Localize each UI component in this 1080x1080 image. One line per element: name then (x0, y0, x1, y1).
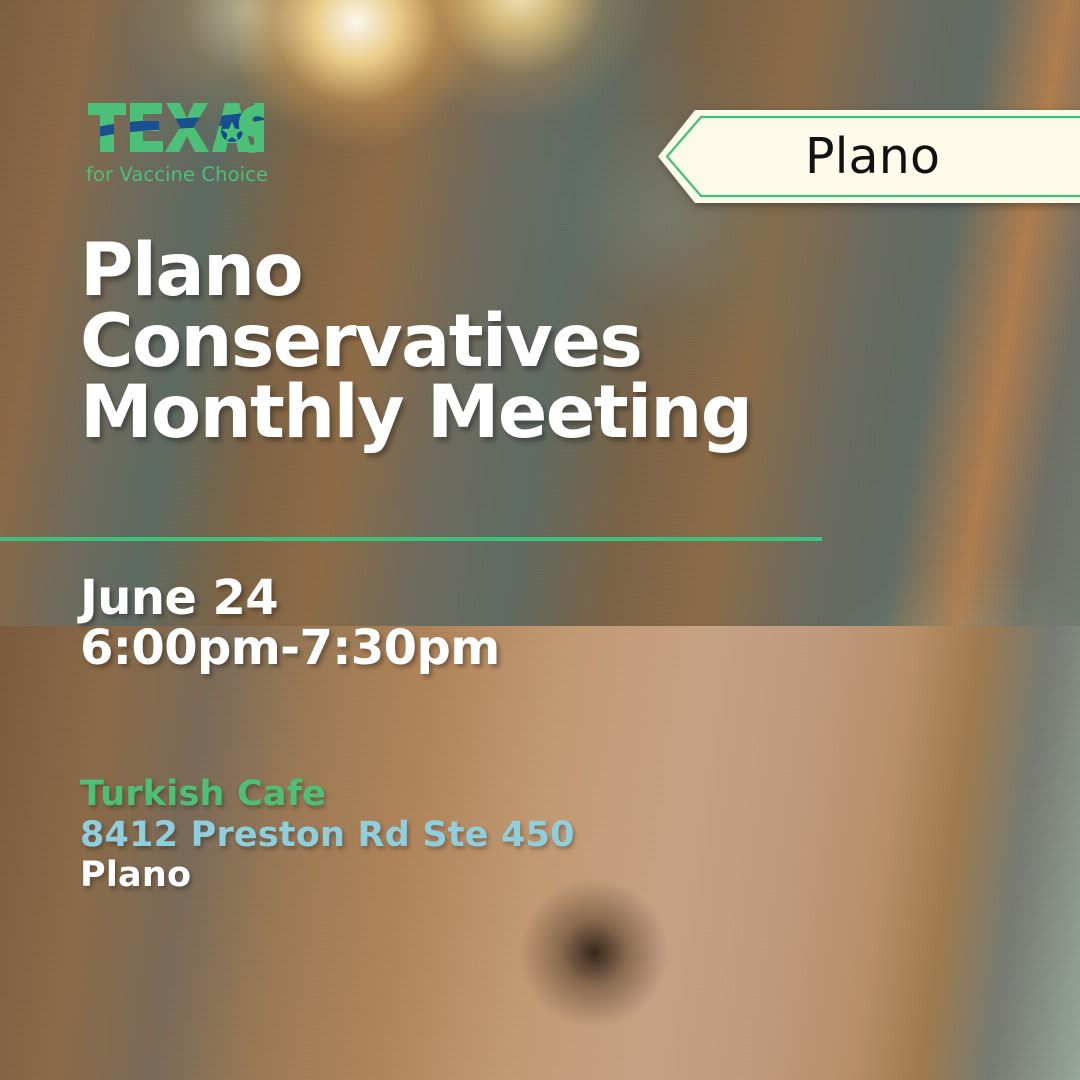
event-datetime: June 24 6:00pm-7:30pm (80, 573, 500, 674)
venue-name: Turkish Cafe (80, 774, 575, 815)
event-title-line-2: Conservatives (80, 307, 840, 378)
event-venue: Turkish Cafe 8412 Preston Rd Ste 450 Pla… (80, 774, 575, 896)
event-flyer: for Vaccine Choice Plano Plano Conservat… (0, 0, 1080, 1080)
event-title-line-3: Monthly Meeting (80, 378, 840, 449)
event-title-line-1: Plano (80, 236, 840, 307)
ribbon-label: Plano (655, 108, 1080, 205)
section-divider (0, 537, 822, 541)
venue-city: Plano (80, 855, 575, 896)
event-title: Plano Conservatives Monthly Meeting (80, 236, 840, 448)
event-date: June 24 (80, 573, 500, 623)
organization-logo: for Vaccine Choice (86, 100, 264, 185)
logo-tagline: for Vaccine Choice (86, 165, 264, 185)
event-time: 6:00pm-7:30pm (80, 623, 500, 673)
texans-wordmark-icon (86, 100, 264, 162)
venue-street: 8412 Preston Rd Ste 450 (80, 815, 575, 856)
location-ribbon: Plano (655, 108, 1080, 205)
